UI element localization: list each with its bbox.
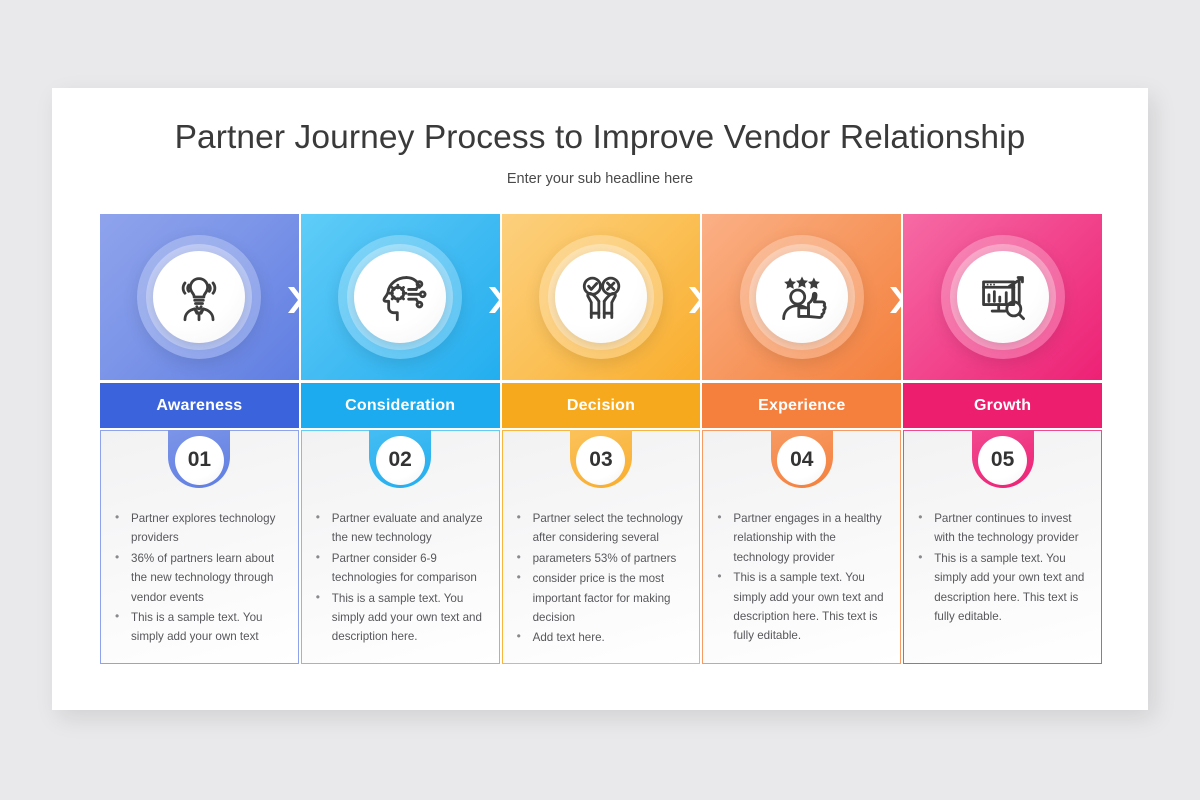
icon-ring <box>539 235 663 359</box>
stage-number-1: 01 <box>175 436 224 485</box>
list-item: Partner select the technology after cons… <box>513 509 688 548</box>
stage-label-1: Awareness <box>100 383 299 428</box>
stage-body-1: 01 Partner explores technology providers… <box>100 430 299 664</box>
list-item: parameters 53% of partners <box>513 549 688 568</box>
stage-body-5: 05 Partner continues to invest with the … <box>903 430 1102 664</box>
process-stage-3[interactable]: Decision 03 Partner select the technolog… <box>502 214 701 664</box>
icon-disc <box>957 251 1049 343</box>
icon-ring <box>941 235 1065 359</box>
stage-number-badge-5: 05 <box>972 430 1034 488</box>
stage-label-4: Experience <box>702 383 901 428</box>
process-stage-list: Awareness 01 Partner explores technology… <box>100 214 1102 664</box>
stage-number-4: 04 <box>777 436 826 485</box>
stage-bullets-3: Partner select the technology after cons… <box>513 509 688 648</box>
stage-hero-4 <box>702 214 901 380</box>
page-subtitle: Enter your sub headline here <box>52 171 1148 187</box>
stage-number-badge-1: 01 <box>168 430 230 488</box>
stage-hero-3 <box>502 214 701 380</box>
list-item: Partner consider 6-9 technologies for co… <box>312 549 487 588</box>
stage-body-3: 03 Partner select the technology after c… <box>502 430 701 664</box>
process-stage-2[interactable]: Consideration 02 Partner evaluate and an… <box>301 214 500 664</box>
icon-ring <box>137 235 261 359</box>
icon-disc <box>153 251 245 343</box>
stage-label-3: Decision <box>502 383 701 428</box>
monitor-chart-magnifier-icon <box>976 270 1030 324</box>
list-item: This is a sample text. You simply add yo… <box>312 589 487 647</box>
stage-bullets-5: Partner continues to invest with the tec… <box>914 509 1089 626</box>
list-item: Partner continues to invest with the tec… <box>914 509 1089 548</box>
list-item: Partner evaluate and analyze the new tec… <box>312 509 487 548</box>
stage-connector-arrow-4 <box>890 287 901 313</box>
list-item: Partner engages in a healthy relationshi… <box>713 509 888 567</box>
stage-body-2: 02 Partner evaluate and analyze the new … <box>301 430 500 664</box>
stage-connector-arrow-3 <box>689 287 700 313</box>
list-item: This is a sample text. You simply add yo… <box>111 608 286 647</box>
list-item: consider price is the most important fac… <box>513 569 688 627</box>
stage-hero-2 <box>301 214 500 380</box>
stage-number-badge-4: 04 <box>771 430 833 488</box>
icon-disc <box>756 251 848 343</box>
stage-bullets-2: Partner evaluate and analyze the new tec… <box>312 509 487 647</box>
stage-hero-5 <box>903 214 1102 380</box>
stage-connector-arrow-2 <box>489 287 500 313</box>
icon-ring <box>740 235 864 359</box>
stage-number-5: 05 <box>978 436 1027 485</box>
list-item: Add text here. <box>513 628 688 647</box>
stage-number-3: 03 <box>576 436 625 485</box>
list-item: Partner explores technology providers <box>111 509 286 548</box>
list-item: 36% of partners learn about the new tech… <box>111 549 286 607</box>
icon-disc <box>555 251 647 343</box>
head-gear-circuit-icon <box>373 270 427 324</box>
list-item: This is a sample text. You simply add yo… <box>713 568 888 646</box>
process-stage-1[interactable]: Awareness 01 Partner explores technology… <box>100 214 299 664</box>
stage-connector-arrow-1 <box>288 287 299 313</box>
icon-disc <box>354 251 446 343</box>
awareness-lightbulb-person-icon <box>172 270 226 324</box>
stage-bullets-1: Partner explores technology providers 36… <box>111 509 286 647</box>
icon-ring <box>338 235 462 359</box>
process-stage-4[interactable]: Experience 04 Partner engages in a healt… <box>702 214 901 664</box>
slide-canvas: Partner Journey Process to Improve Vendo… <box>52 88 1148 710</box>
process-stage-5[interactable]: Growth 05 Partner continues to invest wi… <box>903 214 1102 664</box>
stage-body-4: 04 Partner engages in a healthy relation… <box>702 430 901 664</box>
list-item: This is a sample text. You simply add yo… <box>914 549 1089 627</box>
stage-label-5: Growth <box>903 383 1102 428</box>
stage-hero-1 <box>100 214 299 380</box>
page-title: Partner Journey Process to Improve Vendo… <box>52 119 1148 157</box>
hands-check-cross-icon <box>574 270 628 324</box>
stage-bullets-4: Partner engages in a healthy relationshi… <box>713 509 888 646</box>
stage-number-2: 02 <box>376 436 425 485</box>
stage-number-badge-2: 02 <box>369 430 431 488</box>
stage-number-badge-3: 03 <box>570 430 632 488</box>
stage-label-2: Consideration <box>301 383 500 428</box>
person-stars-thumbsup-icon <box>775 270 829 324</box>
